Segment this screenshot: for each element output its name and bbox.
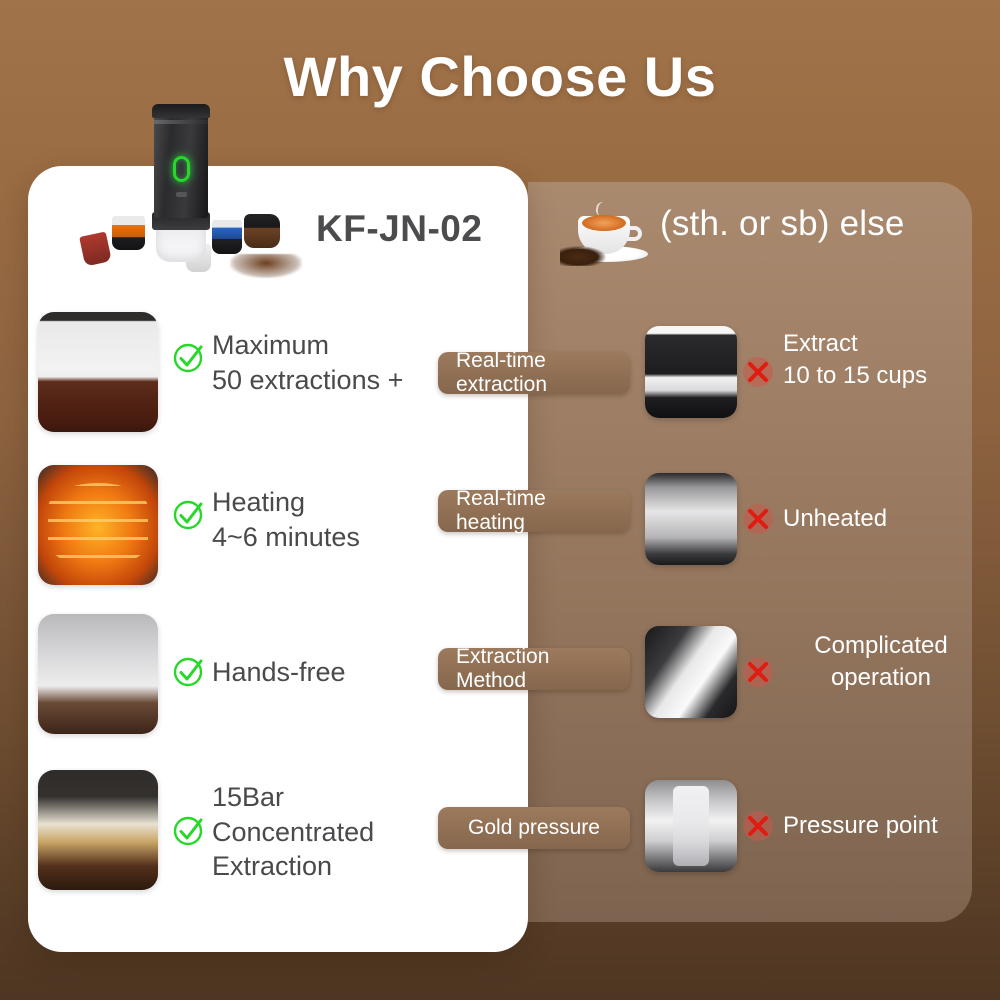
capsule-blue (212, 220, 242, 254)
green-check-icon (172, 654, 208, 690)
comparison-row: Maximum 50 extractions + Real-time extra… (0, 310, 1000, 450)
coffee-grounds (230, 254, 302, 278)
feature-thumbnail-3 (38, 614, 158, 734)
comparison-row: Heating 4~6 minutes Real-time heating Un… (0, 463, 1000, 603)
feature-text-3: Hands-free (212, 655, 346, 690)
green-check-icon (172, 340, 208, 376)
comparison-row: 15Bar Concentrated Extraction Gold press… (0, 768, 1000, 908)
feature-text-2: Heating 4~6 minutes (212, 485, 360, 554)
hero-button (176, 192, 187, 197)
center-label-1: Real-time extraction (438, 352, 630, 394)
feature-thumbnail-2 (38, 465, 158, 585)
competitor-text-2: Unheated (783, 503, 887, 535)
feature-text-1: Maximum 50 extractions + (212, 328, 403, 397)
competitor-thumbnail-1 (645, 326, 737, 418)
red-x-icon (740, 501, 776, 537)
competitor-title: (sth. or sb) else (660, 204, 905, 244)
competitor-text-4: Pressure point (783, 810, 938, 842)
red-x-icon (740, 808, 776, 844)
page-title: Why Choose Us (0, 44, 1000, 109)
center-label-4: Gold pressure (438, 807, 630, 849)
hero-cap (152, 104, 210, 118)
competitor-text-3: Complicated operation (783, 630, 979, 693)
competitor-thumbnail-2 (645, 473, 737, 565)
green-check-icon (172, 497, 208, 533)
center-label-2: Real-time heating (438, 490, 630, 532)
product-model-name: KF-JN-02 (316, 208, 482, 250)
hero-glass-cup (156, 226, 206, 262)
red-x-icon (740, 654, 776, 690)
red-x-icon (740, 354, 776, 390)
competitor-text-1: Extract 10 to 15 cups (783, 328, 927, 391)
feature-text-4: 15Bar Concentrated Extraction (212, 780, 374, 884)
green-check-icon (172, 813, 208, 849)
competitor-thumbnail-3 (645, 626, 737, 718)
feature-thumbnail-1 (38, 312, 158, 432)
hero-ring (154, 120, 208, 124)
coffee-cup-icon (556, 202, 656, 268)
center-label-3: Extraction Method (438, 648, 630, 690)
comparison-row: Hands-free Extraction Method Complicated… (0, 612, 1000, 752)
hero-product-image (72, 104, 304, 282)
capsule-orange (112, 216, 145, 250)
coffee-beans (560, 246, 606, 266)
capsule-red (79, 232, 112, 267)
cup-crema (582, 215, 626, 231)
competitor-header: (sth. or sb) else (556, 198, 956, 272)
feature-thumbnail-4 (38, 770, 158, 890)
competitor-thumbnail-4 (645, 780, 737, 872)
capsule-open-grounds (244, 214, 280, 248)
power-led-icon (173, 156, 190, 182)
